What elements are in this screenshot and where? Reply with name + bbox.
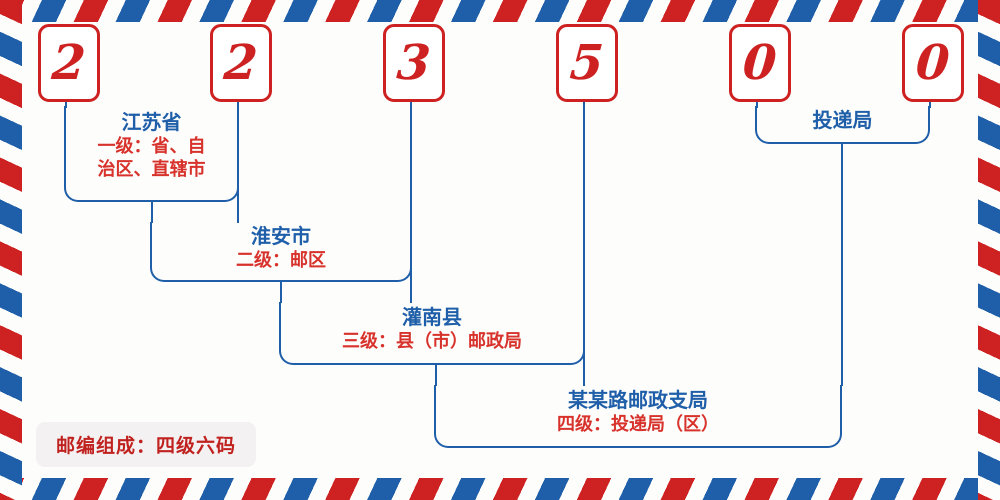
group-title-level-4: 某某路邮政支局 [434,388,842,413]
group-text-level-2: 淮安市 二级：邮区 [150,224,412,272]
digit-cell-1: 2 [38,24,100,102]
group-text-level-4: 某某路邮政支局 四级：投递局（区） [434,388,842,436]
digit-glyph-4: 5 [569,39,606,87]
group-subtitle-level-3-line-1: 三级：县（市）邮政局 [279,330,585,353]
group-title-delivery-office: 投递局 [755,108,930,133]
group-subtitle-level-1-line-1: 一级：省、自 [64,135,239,158]
group-title-level-3: 灌南县 [279,305,585,330]
digit-cell-2: 2 [210,24,272,102]
airmail-stripe-right [978,0,1000,500]
connector-level-2-down [280,282,282,303]
group-text-delivery-office: 投递局 [755,108,930,133]
digit-cell-4: 5 [556,24,618,102]
connector-delivery-office-down [841,144,843,386]
group-text-level-1: 江苏省 一级：省、自 治区、直辖市 [64,110,239,182]
digit-glyph-5: 0 [742,39,779,87]
group-text-level-3: 灌南县 三级：县（市）邮政局 [279,305,585,353]
postcode-diagram: 2 2 3 5 0 0 投递局 江苏省 一级：省、自 治区、直辖市 淮安市 [0,0,1000,500]
group-subtitle-level-4-line-1: 四级：投递局（区） [434,413,842,436]
digit-glyph-3: 3 [396,39,433,87]
legend-badge: 邮编组成：四级六码 [36,422,256,467]
digit-cell-5: 0 [729,24,791,102]
group-subtitle-level-2-line-1: 二级：邮区 [150,249,412,272]
digit-cell-3: 3 [383,24,445,102]
digit-cell-6: 0 [902,24,964,102]
airmail-stripe-top [0,0,1000,22]
airmail-stripe-bottom [0,478,1000,500]
airmail-stripe-left [0,0,22,500]
digit-glyph-2: 2 [223,39,260,87]
connector-level-1-down [151,202,153,223]
connector-level-3-down [435,365,437,386]
digit-glyph-1: 2 [51,39,88,87]
group-title-level-1: 江苏省 [64,110,239,135]
group-title-level-2: 淮安市 [150,224,412,249]
group-subtitle-level-1-line-2: 治区、直辖市 [64,158,239,181]
digit-glyph-6: 0 [915,39,952,87]
